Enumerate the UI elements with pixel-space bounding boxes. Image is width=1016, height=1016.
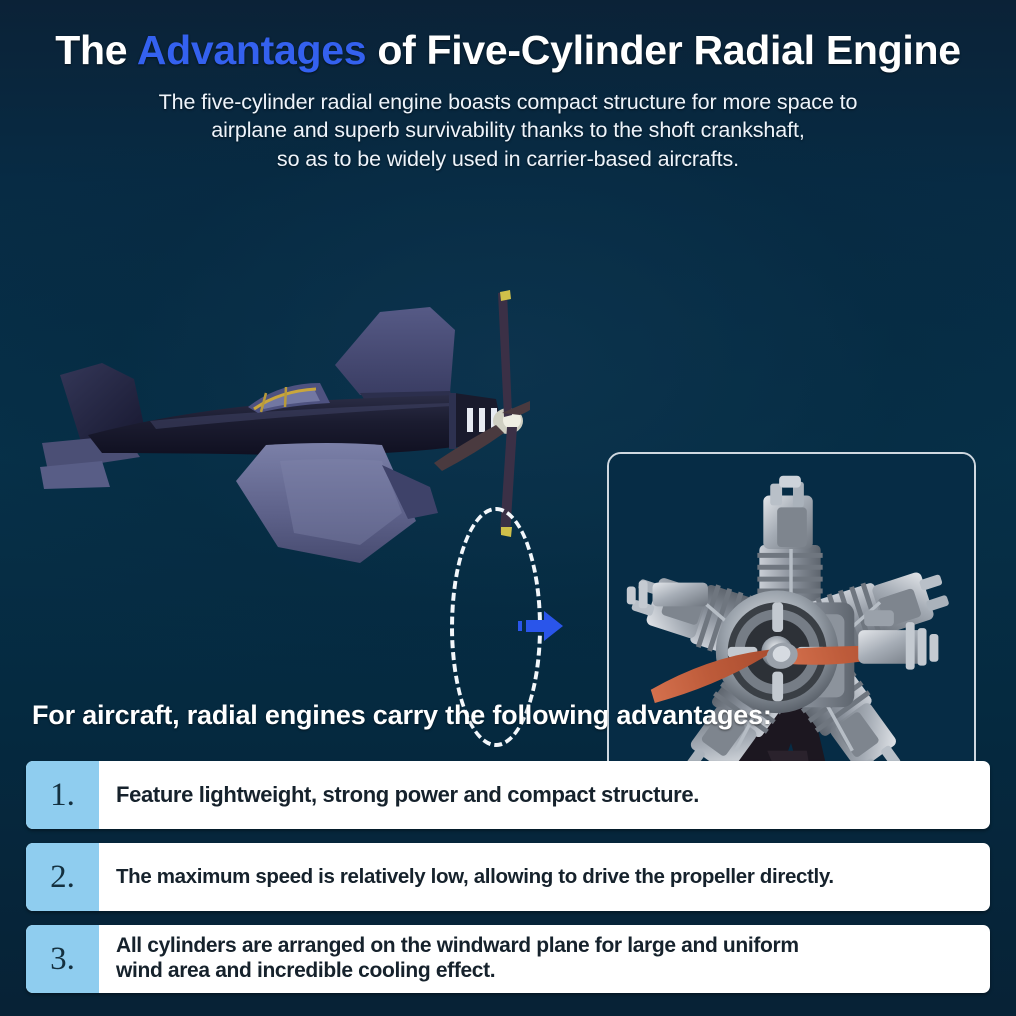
subtitle-line-1: The five-cylinder radial engine boasts c… [0, 88, 1016, 116]
subtitle-line-3: so as to be widely used in carrier-based… [0, 145, 1016, 173]
list-item[interactable]: 1. Feature lightweight, strong power and… [26, 761, 990, 829]
page-title: The Advantages of Five-Cylinder Radial E… [0, 28, 1016, 74]
list-item-number: 1. [26, 761, 99, 829]
list-item[interactable]: 2. The maximum speed is relatively low, … [26, 843, 990, 911]
list-item-number: 3. [26, 925, 99, 993]
title-accent-word: Advantages [137, 27, 366, 73]
list-item-text: The maximum speed is relatively low, all… [99, 843, 990, 911]
title-part-1: The [55, 27, 137, 73]
list-item-text-line-1: All cylinders are arranged on the windwa… [116, 934, 799, 959]
page-subtitle: The five-cylinder radial engine boasts c… [0, 88, 1016, 173]
right-arrow-icon [518, 609, 564, 643]
advantages-heading: For aircraft, radial engines carry the f… [32, 700, 772, 731]
list-item-text: All cylinders are arranged on the windwa… [99, 925, 990, 993]
showcase-section [0, 215, 1016, 635]
header: The Advantages of Five-Cylinder Radial E… [0, 28, 1016, 173]
subtitle-line-2: airplane and superb survivability thanks… [0, 116, 1016, 144]
title-part-2: of Five-Cylinder Radial Engine [366, 27, 960, 73]
list-item-text: Feature lightweight, strong power and co… [99, 761, 990, 829]
advantages-list: 1. Feature lightweight, strong power and… [26, 761, 990, 993]
list-item[interactable]: 3. All cylinders are arranged on the win… [26, 925, 990, 993]
corsair-aircraft-photo [30, 275, 530, 575]
list-item-text-line-2: wind area and incredible cooling effect. [116, 959, 799, 984]
list-item-number: 2. [26, 843, 99, 911]
